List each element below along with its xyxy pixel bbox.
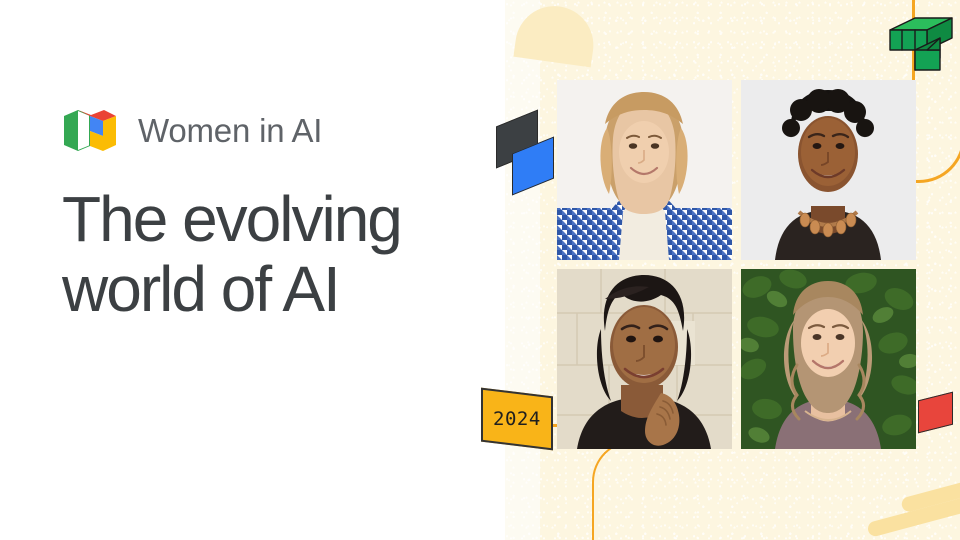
speaker-photo-4 bbox=[741, 269, 916, 449]
brand-name-label: Women in AI bbox=[138, 112, 322, 150]
slide-canvas: 2024 bbox=[0, 0, 960, 540]
speaker-photo-grid bbox=[557, 80, 916, 451]
orange-curve-bottom-icon bbox=[592, 440, 714, 540]
green-tetris-block-icon bbox=[879, 16, 957, 78]
speaker-photo-1 bbox=[557, 80, 732, 260]
speaker-photo-2 bbox=[741, 80, 916, 260]
year-badge: 2024 bbox=[481, 388, 553, 451]
speaker-photo-3 bbox=[557, 269, 732, 449]
headline-line-2: world of AI bbox=[62, 255, 492, 325]
headline-line-1: The evolving bbox=[62, 185, 492, 255]
year-badge-label: 2024 bbox=[493, 408, 541, 430]
brand-lockup: Women in AI bbox=[62, 108, 322, 153]
google-cube-logo-icon bbox=[62, 108, 118, 153]
page-title: The evolving world of AI bbox=[62, 185, 492, 325]
